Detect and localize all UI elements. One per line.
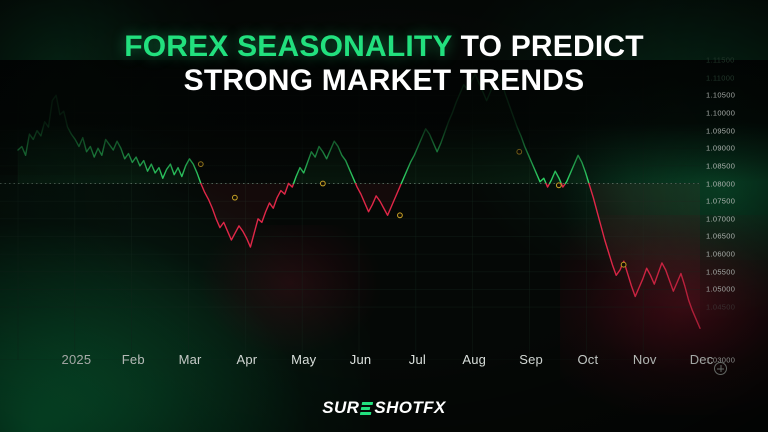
x-axis-label: May — [291, 352, 316, 367]
brand-logo[interactable]: SUR SHOTFX — [0, 398, 768, 418]
x-axis-label: Nov — [633, 352, 657, 367]
y-axis: 1.115001.110001.105001.100001.095001.090… — [702, 60, 768, 360]
y-axis-label: 1.10000 — [706, 108, 735, 117]
x-axis-label: Oct — [577, 352, 598, 367]
x-axis-label: Sep — [519, 352, 543, 367]
y-axis-label: 1.05000 — [706, 285, 735, 294]
price-chart[interactable] — [0, 60, 768, 360]
x-axis: 2025FebMarAprMayJunJulAugSepOctNovDec — [0, 352, 768, 382]
y-axis-label: 1.07500 — [706, 197, 735, 206]
y-axis-label: 1.09000 — [706, 144, 735, 153]
y-axis-label: 1.06000 — [706, 250, 735, 259]
chart-gridlines — [0, 60, 700, 360]
y-axis-label: 1.07000 — [706, 214, 735, 223]
x-axis-label: Jun — [350, 352, 372, 367]
x-axis-label: Jul — [409, 352, 426, 367]
title-accent-text: FOREX SEASONALITY — [124, 30, 452, 63]
y-axis-label: 1.11000 — [706, 73, 735, 82]
y-axis-label: 1.08000 — [706, 179, 735, 188]
crosshair-target-icon[interactable] — [714, 362, 727, 375]
logo-text-part2: SHOTFX — [374, 398, 445, 418]
x-axis-label: Aug — [462, 352, 486, 367]
x-axis-label: Apr — [236, 352, 257, 367]
poster-canvas: 1.115001.110001.105001.100001.095001.090… — [0, 0, 768, 432]
y-axis-label: 1.10500 — [706, 91, 735, 100]
logo-text-part1: SUR — [322, 398, 359, 418]
y-axis-label: 1.09500 — [706, 126, 735, 135]
y-axis-label: 1.08500 — [706, 161, 735, 170]
y-axis-label: 1.05500 — [706, 267, 735, 276]
logo-e-glyph-icon — [360, 402, 373, 415]
title-line-1: FOREX SEASONALITY TO PREDICT — [0, 30, 768, 64]
y-axis-label: 1.06500 — [706, 232, 735, 241]
y-axis-label: 1.11500 — [706, 56, 735, 65]
title-rest-text: TO PREDICT — [452, 30, 644, 63]
x-axis-label: Feb — [122, 352, 145, 367]
y-axis-label: 1.04500 — [706, 303, 735, 312]
chart-svg — [0, 60, 768, 360]
x-axis-label: Dec — [690, 352, 714, 367]
x-axis-label: Mar — [179, 352, 202, 367]
x-axis-label: 2025 — [62, 352, 92, 367]
